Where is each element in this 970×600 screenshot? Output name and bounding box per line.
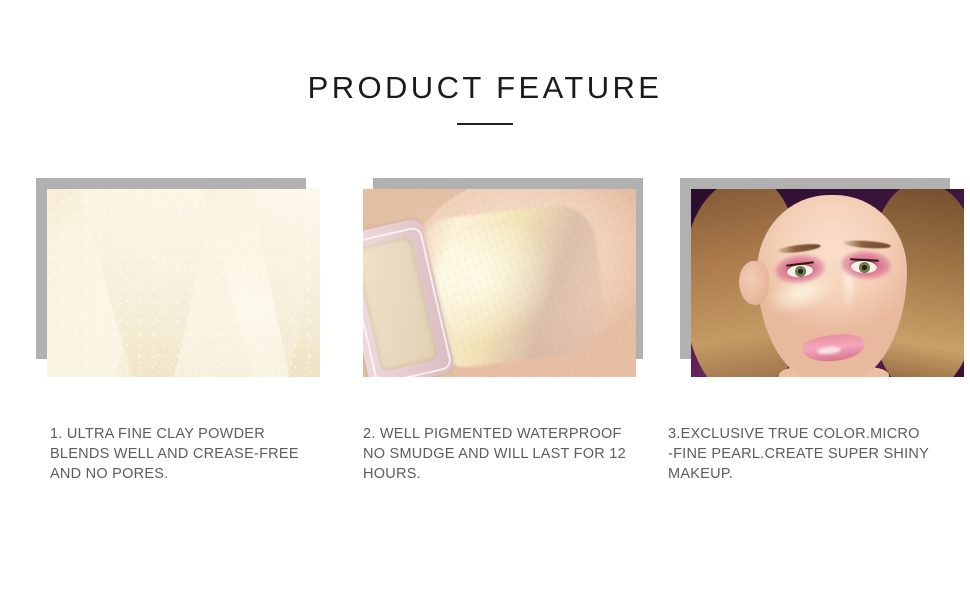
feature-photo-powder: [47, 189, 320, 377]
feature-panel-1: [36, 178, 320, 388]
photo-frame-1: [36, 178, 320, 388]
feature-panel-2: [363, 178, 647, 388]
iris-right: [859, 262, 871, 274]
feature-photo-model: [691, 189, 964, 377]
iris-left: [795, 265, 807, 277]
title-underline-rule: [457, 123, 513, 125]
feature-caption-1: 1. ULTRA FINE CLAY POWDER BLENDS WELL AN…: [50, 424, 312, 484]
photo-frame-3: [680, 178, 964, 388]
ear: [739, 261, 769, 305]
feature-photo-swatch: [363, 189, 636, 377]
feature-panel-3: [680, 178, 964, 388]
powder-shimmer-grain: [47, 189, 320, 377]
page-header: PRODUCT FEATURE: [0, 72, 970, 125]
page-title: PRODUCT FEATURE: [0, 72, 970, 103]
feature-caption-3: 3.EXCLUSIVE TRUE COLOR.MICRO -FINE PEARL…: [668, 424, 948, 484]
model-portrait: [691, 189, 964, 377]
feature-caption-2: 2. WELL PIGMENTED WATERPROOF NO SMUDGE A…: [363, 424, 635, 484]
photo-frame-2: [363, 178, 647, 388]
powder-texture: [47, 189, 320, 377]
